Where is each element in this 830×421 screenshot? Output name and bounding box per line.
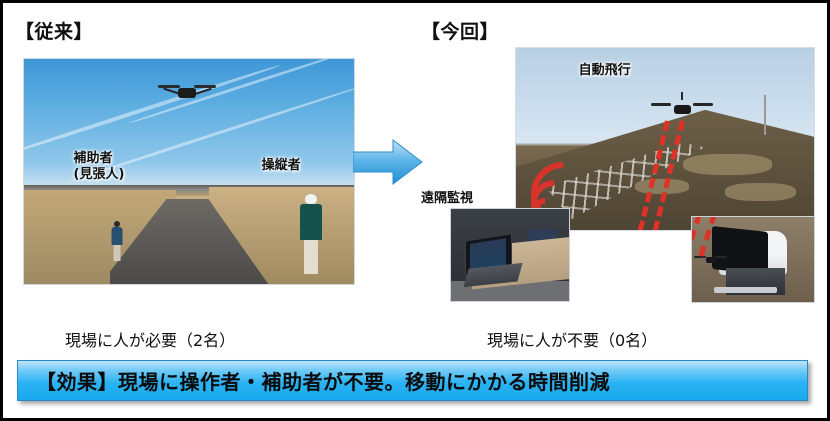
effect-banner-text: 【効果】現場に操作者・補助者が不要。移動にかかる時間削減 xyxy=(18,366,610,395)
drone-rotor xyxy=(194,85,216,88)
drone-port-legs xyxy=(714,287,777,294)
person-legs xyxy=(304,240,318,274)
slide-root: 【従来】 補助者 (見張人) 操縦者 現場に人が必要（2名） xyxy=(0,0,830,421)
remote-monitoring-label: 遠隔監視 xyxy=(421,191,473,207)
person-torso xyxy=(300,204,322,240)
drone-rotor xyxy=(651,103,671,106)
effect-banner: 【効果】現場に操作者・補助者が不要。移動にかかる時間削減 xyxy=(17,360,808,401)
slope-patch xyxy=(725,183,797,201)
drone-rotor xyxy=(715,256,727,258)
drone-body xyxy=(674,105,691,114)
drone-rotor xyxy=(158,85,180,88)
conventional-drone-operation-photo: 補助者 (見張人) 操縦者 xyxy=(23,58,355,285)
drone-rotor xyxy=(693,103,713,106)
drone-body xyxy=(706,257,716,263)
drone-antenna xyxy=(681,92,683,99)
right-section-heading: 【今回】 xyxy=(421,17,499,44)
auto-flight-label: 自動飛行 xyxy=(579,63,631,79)
left-section-heading: 【従来】 xyxy=(15,17,93,44)
automatic-flight-embankment-photo: 自動飛行 xyxy=(515,47,815,231)
person-legs xyxy=(113,245,120,261)
remote-monitoring-office-photo xyxy=(450,208,570,302)
helper-person xyxy=(110,221,124,263)
drone-icon xyxy=(653,97,711,119)
survey-mast xyxy=(764,95,766,135)
right-caption: 現場に人が不要（0名） xyxy=(487,327,657,351)
helper-label: 補助者 (見張人) xyxy=(74,151,125,183)
drone-rotor xyxy=(694,256,706,258)
sky-contrail xyxy=(23,63,281,159)
slope-patch xyxy=(683,154,772,176)
left-caption: 現場に人が必要（2名） xyxy=(65,327,235,351)
drone-body xyxy=(178,88,196,98)
person-head xyxy=(305,194,317,204)
pilot-label: 操縦者 xyxy=(262,158,301,174)
person-torso xyxy=(111,227,122,245)
drone-icon xyxy=(159,79,215,105)
transition-arrow xyxy=(353,137,423,187)
pilot-person xyxy=(298,194,324,274)
drone-port-photo xyxy=(691,216,815,303)
